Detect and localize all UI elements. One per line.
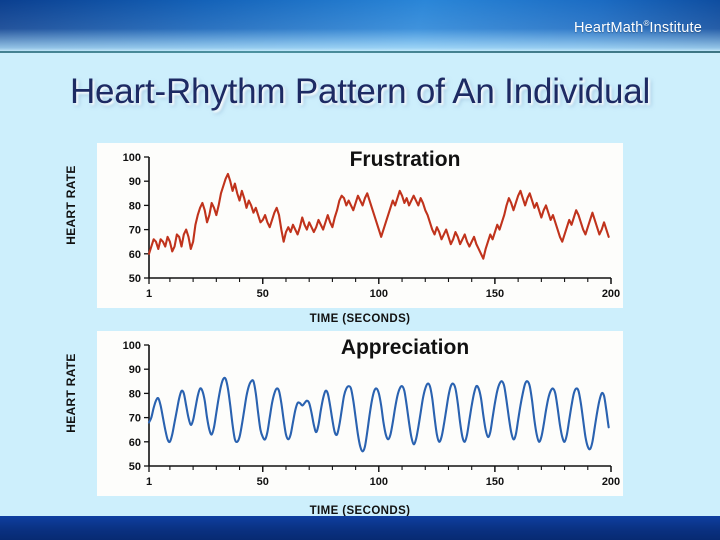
svg-text:100: 100 (370, 476, 388, 488)
svg-text:90: 90 (129, 364, 141, 376)
y-axis-label-frustration: HEART RATE (64, 130, 78, 280)
svg-text:200: 200 (602, 476, 620, 488)
svg-text:1: 1 (146, 288, 152, 300)
svg-text:50: 50 (129, 461, 141, 473)
svg-text:60: 60 (129, 437, 141, 449)
svg-text:50: 50 (257, 288, 269, 300)
svg-text:150: 150 (486, 288, 504, 300)
page-title: Heart-Rhythm Pattern of An Individual (0, 72, 720, 112)
slide: HeartMath®Institute Heart-Rhythm Pattern… (0, 0, 720, 540)
brand-suffix: Institute (649, 20, 702, 36)
slide-footer-band (0, 516, 720, 540)
svg-text:50: 50 (257, 476, 269, 488)
svg-text:50: 50 (129, 273, 141, 285)
y-axis-label-appreciation: HEART RATE (64, 318, 78, 468)
svg-text:150: 150 (486, 476, 504, 488)
chart-title-appreciation: Appreciation (97, 336, 623, 360)
chart-title-frustration: Frustration (97, 148, 623, 172)
x-axis-label-frustration: TIME (SECONDS) (0, 313, 720, 325)
header-divider-rule (0, 51, 720, 53)
svg-text:80: 80 (129, 200, 141, 212)
brand-name: HeartMath (574, 20, 644, 36)
svg-text:70: 70 (129, 225, 141, 237)
heartmath-institute-logo: HeartMath®Institute (574, 19, 702, 36)
svg-text:60: 60 (129, 249, 141, 261)
svg-text:70: 70 (129, 413, 141, 425)
svg-text:100: 100 (370, 288, 388, 300)
chart-panel-appreciation: 5060708090100150100150200 Appreciation (97, 331, 623, 496)
svg-text:80: 80 (129, 388, 141, 400)
svg-text:200: 200 (602, 288, 620, 300)
svg-text:1: 1 (146, 476, 152, 488)
chart-panel-frustration: 5060708090100150100150200 Frustration (97, 143, 623, 308)
svg-text:90: 90 (129, 176, 141, 188)
